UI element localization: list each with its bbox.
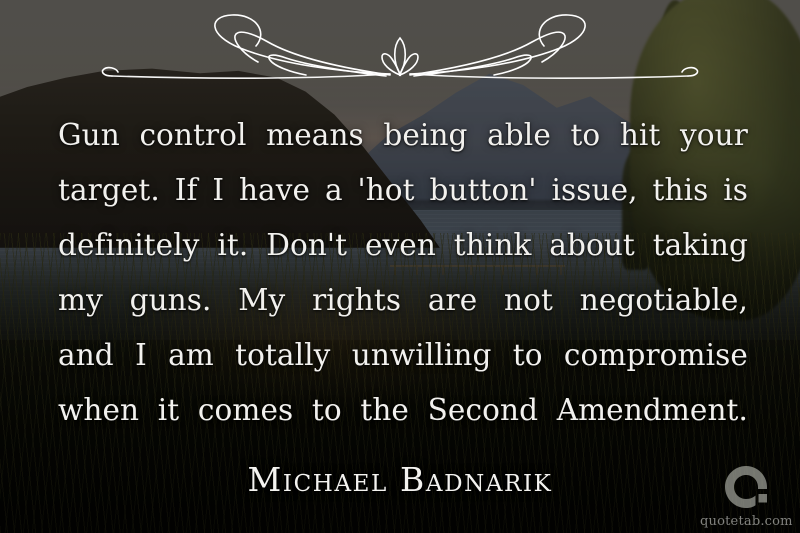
quote-line: definitely it. Don't even think about ta… <box>58 218 748 273</box>
quote-word: think <box>454 218 532 273</box>
quote-word: Second <box>428 383 538 438</box>
quote-word: compromise <box>564 328 748 383</box>
quote-line: target. If I have a 'hot button' issue, … <box>58 163 748 218</box>
quote-word: hit <box>620 108 661 163</box>
quote-word: is <box>723 163 748 218</box>
flourish-ornament-icon <box>90 8 710 86</box>
quote-word: My <box>238 273 285 328</box>
quote-word: rights <box>312 273 401 328</box>
quote-word: about <box>549 218 635 273</box>
quote-word: control <box>139 108 246 163</box>
author-name: Michael Badnarik <box>0 458 800 502</box>
quote-word: Gun <box>58 108 120 163</box>
quote-word: being <box>383 108 467 163</box>
quote-line: my guns. My rights are not negotiable, <box>58 273 748 328</box>
quote-word: unwilling <box>352 328 492 383</box>
quote-line: when it comes to the Second Amendment. <box>58 383 748 438</box>
quote-word: taking <box>653 218 748 273</box>
quote-word: means <box>266 108 364 163</box>
quote-word: totally <box>235 328 330 383</box>
quote-word: comes <box>198 383 293 438</box>
quote-word: even <box>365 218 436 273</box>
quote-word: Amendment. <box>557 383 748 438</box>
quote-word: my <box>58 273 103 328</box>
quote-line: and I am totally unwilling to compromise <box>58 328 748 383</box>
quote-word: have <box>239 163 310 218</box>
quote-word: guns. <box>130 273 212 328</box>
quote-word: I <box>212 163 224 218</box>
quote-word: If <box>175 163 198 218</box>
quote-word: to <box>513 328 543 383</box>
quote-word: issue, <box>552 163 638 218</box>
quote-word: definitely <box>58 218 200 273</box>
quote-word: it <box>158 383 180 438</box>
quote-word: it. <box>217 218 248 273</box>
watermark-site-text: quotetab.com <box>700 514 792 529</box>
quote-word: button' <box>429 163 536 218</box>
quote-word: this <box>653 163 709 218</box>
quote-word: to <box>570 108 600 163</box>
quote-word: to <box>312 383 342 438</box>
quote-word: are <box>428 273 477 328</box>
quote-word: Don't <box>266 218 347 273</box>
quote-word: and <box>58 328 114 383</box>
quote-word: target. <box>58 163 160 218</box>
quote-word: the <box>360 383 409 438</box>
quotetab-q-logo-icon <box>720 461 772 513</box>
quote-word: I <box>135 328 147 383</box>
quote-word: able <box>487 108 551 163</box>
quote-text-block: Gun control means being able to hit your… <box>58 108 748 438</box>
quote-word: your <box>680 108 748 163</box>
quote-word: not <box>504 273 553 328</box>
quote-word: negotiable, <box>580 273 748 328</box>
quote-word: when <box>58 383 139 438</box>
quote-line: Gun control means being able to hit your <box>58 108 748 163</box>
quote-word: a <box>325 163 343 218</box>
site-watermark[interactable]: quotetab.com <box>700 461 792 529</box>
quote-word: am <box>168 328 214 383</box>
quote-image-card: Gun control means being able to hit your… <box>0 0 800 533</box>
quote-word: 'hot <box>358 163 415 218</box>
